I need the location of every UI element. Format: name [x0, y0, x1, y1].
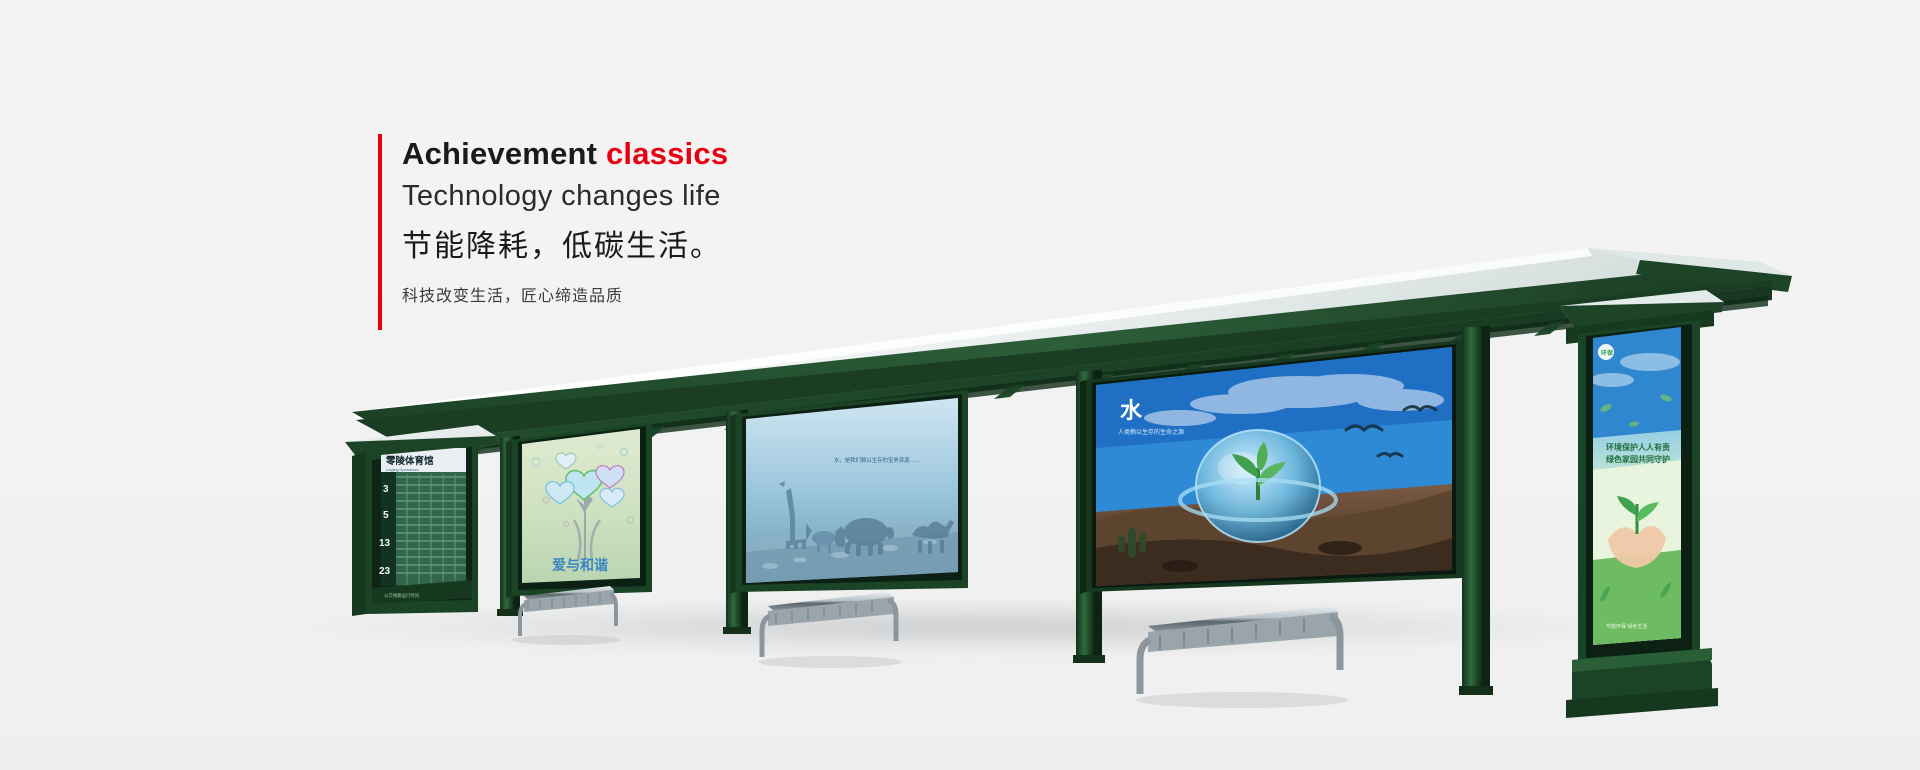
post-5: [1462, 326, 1482, 692]
poster-tree-caption: 爱与和谐: [552, 557, 608, 573]
vertical-light-box: 环保 环境保护人人有责 绿色家园共同守护 节能环保 绿色生活: [1560, 290, 1724, 718]
poster-water-title: 水: [1120, 398, 1143, 423]
timetable-station-name: 零陵体育馆: [385, 455, 434, 467]
timetable-light-box: 零陵体育馆 Lingling Gymnasium 3 5 13 23 公交线路运…: [345, 425, 500, 616]
vertical-box-title-1: 环境保护人人有责: [1606, 442, 1670, 452]
timetable-route-2: 13: [379, 538, 391, 549]
timetable-route-3: 23: [379, 566, 391, 577]
poster-tree-light-box: 爱与和谐: [506, 422, 652, 598]
timetable-footer-note: 公交线路运行时间: [384, 592, 419, 599]
bench-3: [1136, 606, 1348, 708]
timetable-station-name-en: Lingling Gymnasium: [386, 468, 419, 472]
timetable-route-0: 3: [383, 484, 389, 495]
poster-animals-light-box: 水，是我们赖以生存的宝贵资源……: [730, 390, 968, 594]
timetable-route-1: 5: [383, 510, 389, 521]
vertical-box-title-2: 绿色家园共同守护: [1606, 454, 1670, 464]
bench-2: [758, 592, 902, 668]
poster-water-light-box: 水 人类赖以生存的生命之源: [1080, 340, 1462, 594]
bus-shelter-illustration: 零陵体育馆 Lingling Gymnasium 3 5 13 23 公交线路运…: [0, 0, 1920, 770]
vertical-box-logo: 环保: [1601, 349, 1614, 357]
poster-water-subtitle: 人类赖以生存的生命之源: [1118, 428, 1184, 436]
poster-animals-caption: 水，是我们赖以生存的宝贵资源……: [834, 456, 920, 464]
vertical-box-footer: 节能环保 绿色生活: [1606, 623, 1647, 630]
banner-stage: Achievement classics Technology changes …: [0, 0, 1920, 770]
